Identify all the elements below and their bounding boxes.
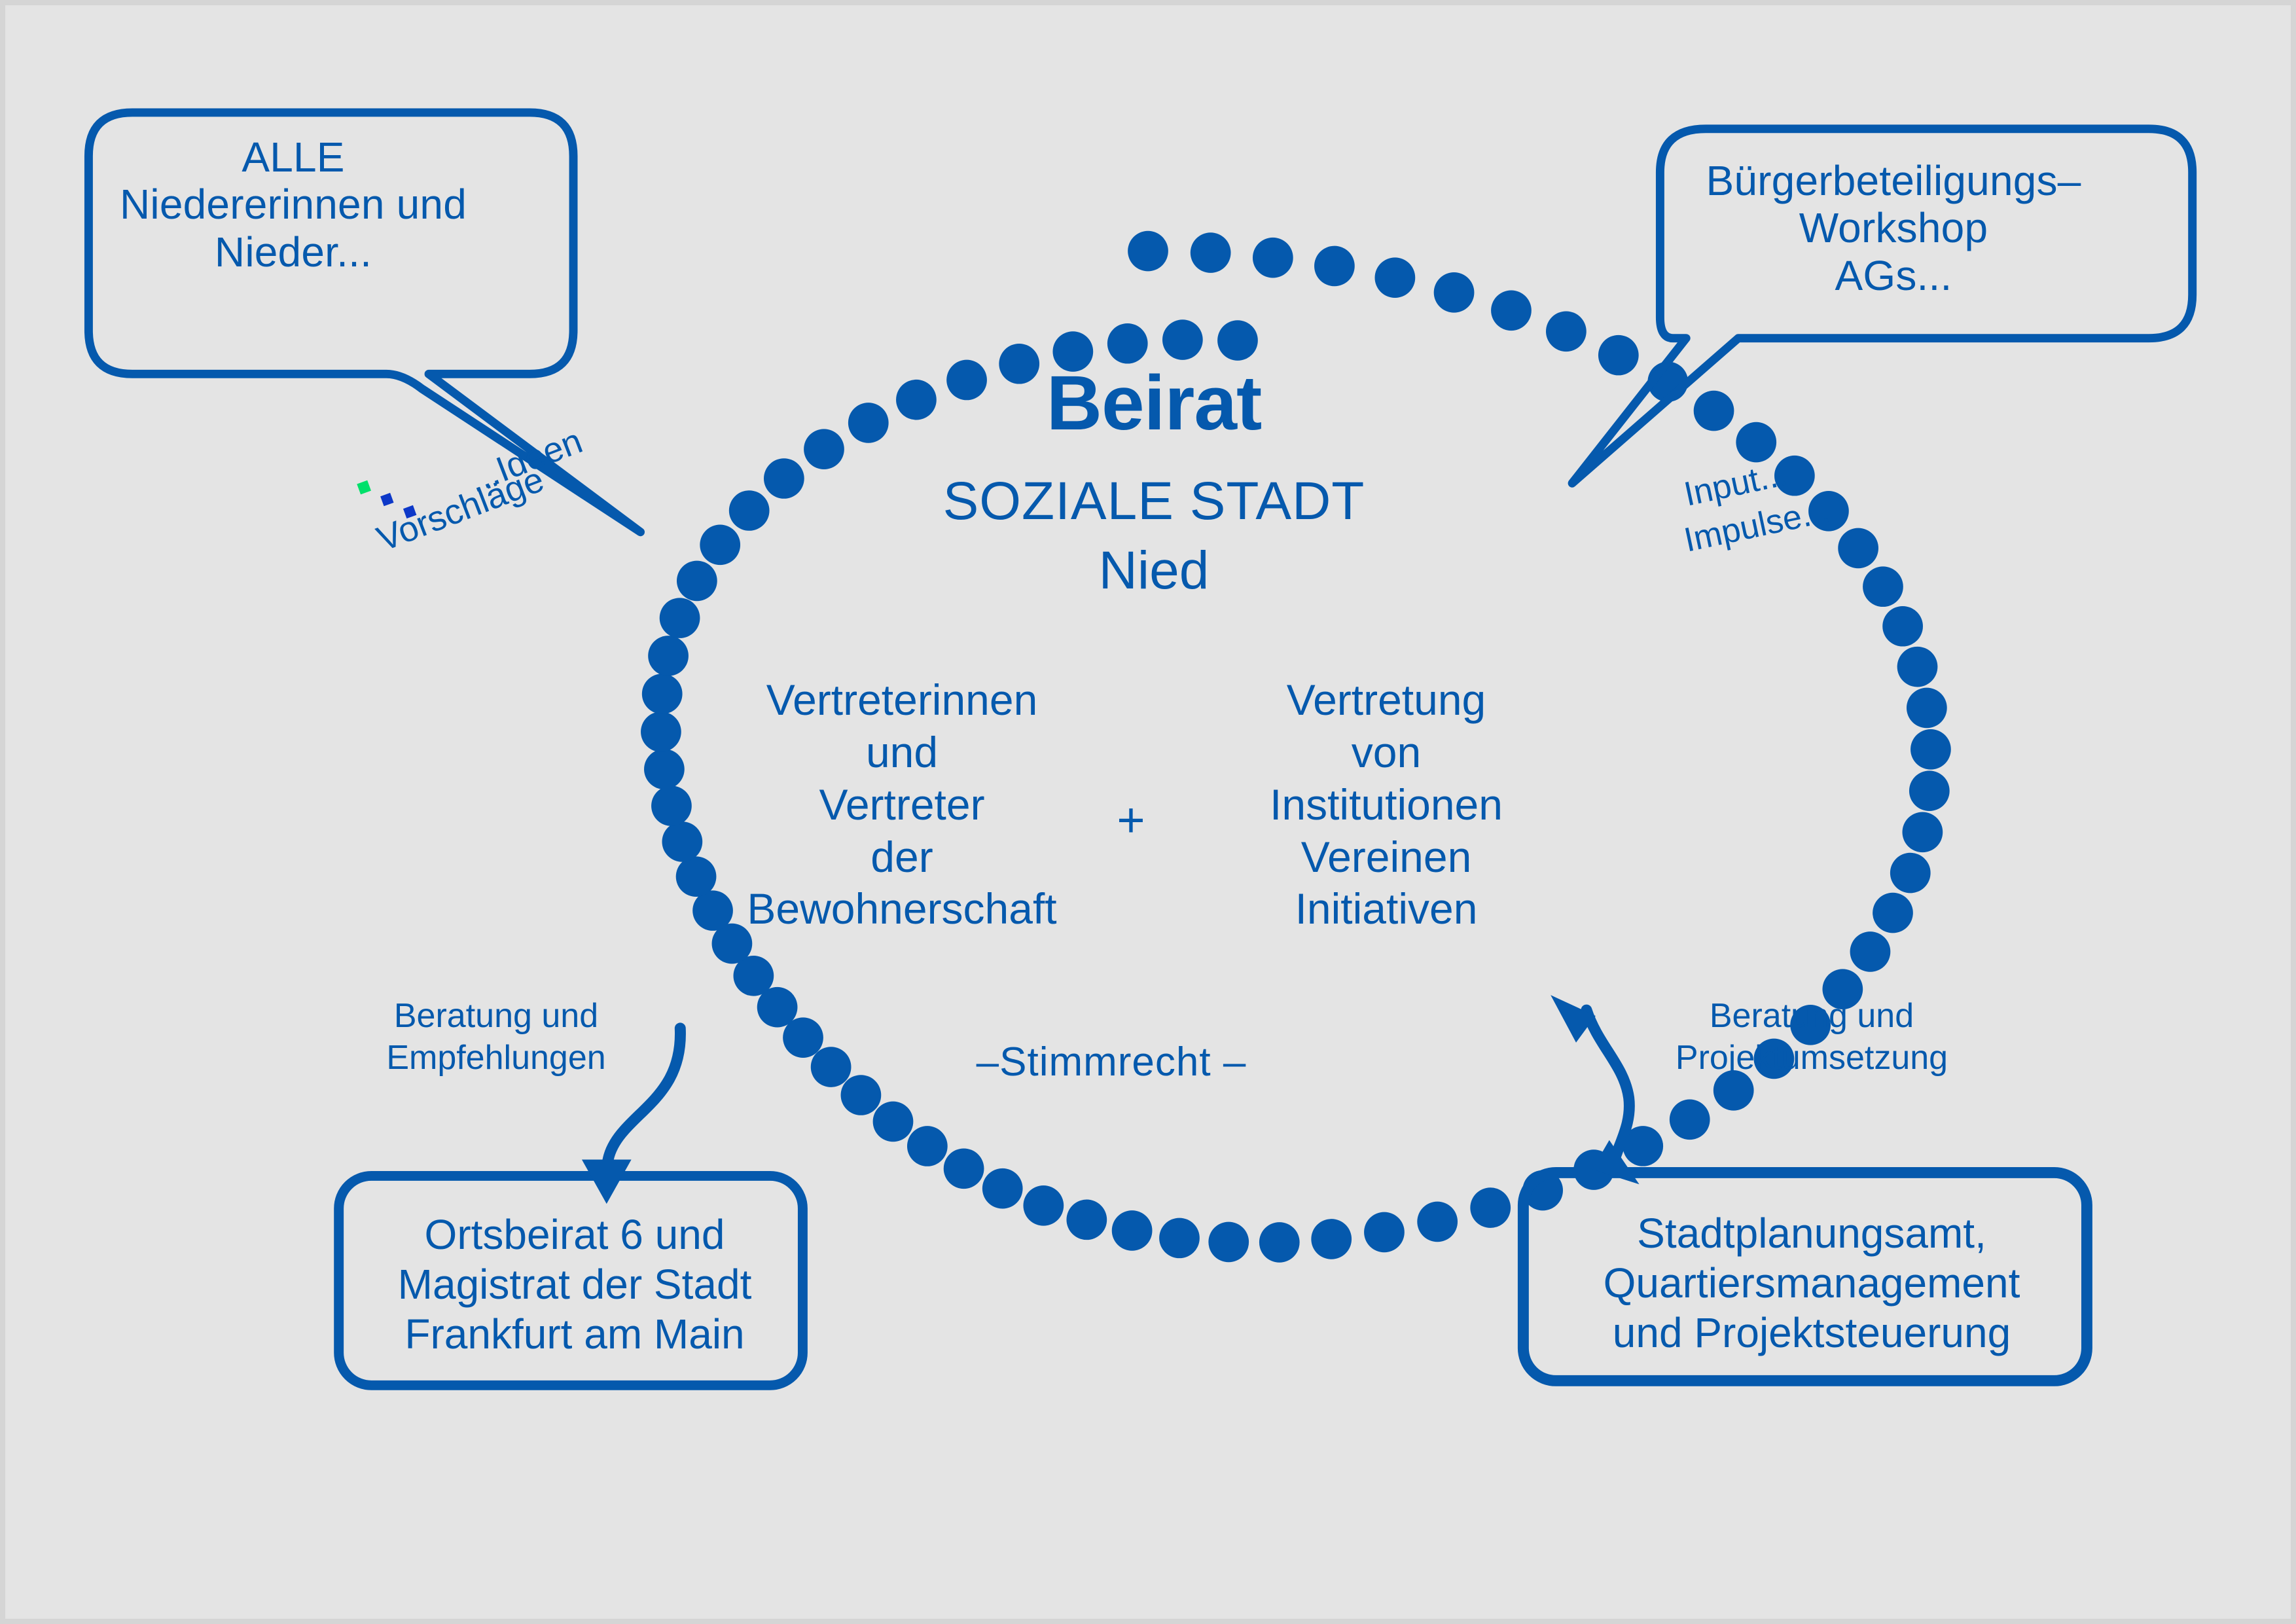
center-stimmrecht-note: –Stimmrecht – [908,1039,1314,1085]
center-plus-operator: + [1092,791,1170,850]
arrow-left-caption: Beratung und Empfehlungen [346,995,647,1079]
box-ortsbeirat-label: Ortsbeirat 6 und Magistrat der Stadt Fra… [346,1210,804,1359]
bubble-left-label: ALLE Niedererinnen und Nieder... [90,134,496,276]
center-subtitle-line1: SOZIALE STADT [804,471,1504,532]
diagram-canvas: ALLE Niedererinnen und Nieder... Bürgerb… [0,0,2296,1624]
center-subtitle-line2: Nied [804,541,1504,602]
center-title: Beirat [804,360,1504,447]
arrow-right-caption: Beratung und Projektumsetzung [1641,995,1982,1079]
box-stadtplanungsamt-label: Stadtplanungsamt, Quartiersmanagement un… [1540,1208,2083,1358]
bubble-right-label: Bürgerbeteiligungs– Workshop AGs... [1684,157,2103,299]
center-column-left: Vertreterinnen und Vertreter der Bewohne… [686,674,1118,935]
center-column-right: Vertretung von Institutionen Vereinen In… [1190,674,1583,935]
